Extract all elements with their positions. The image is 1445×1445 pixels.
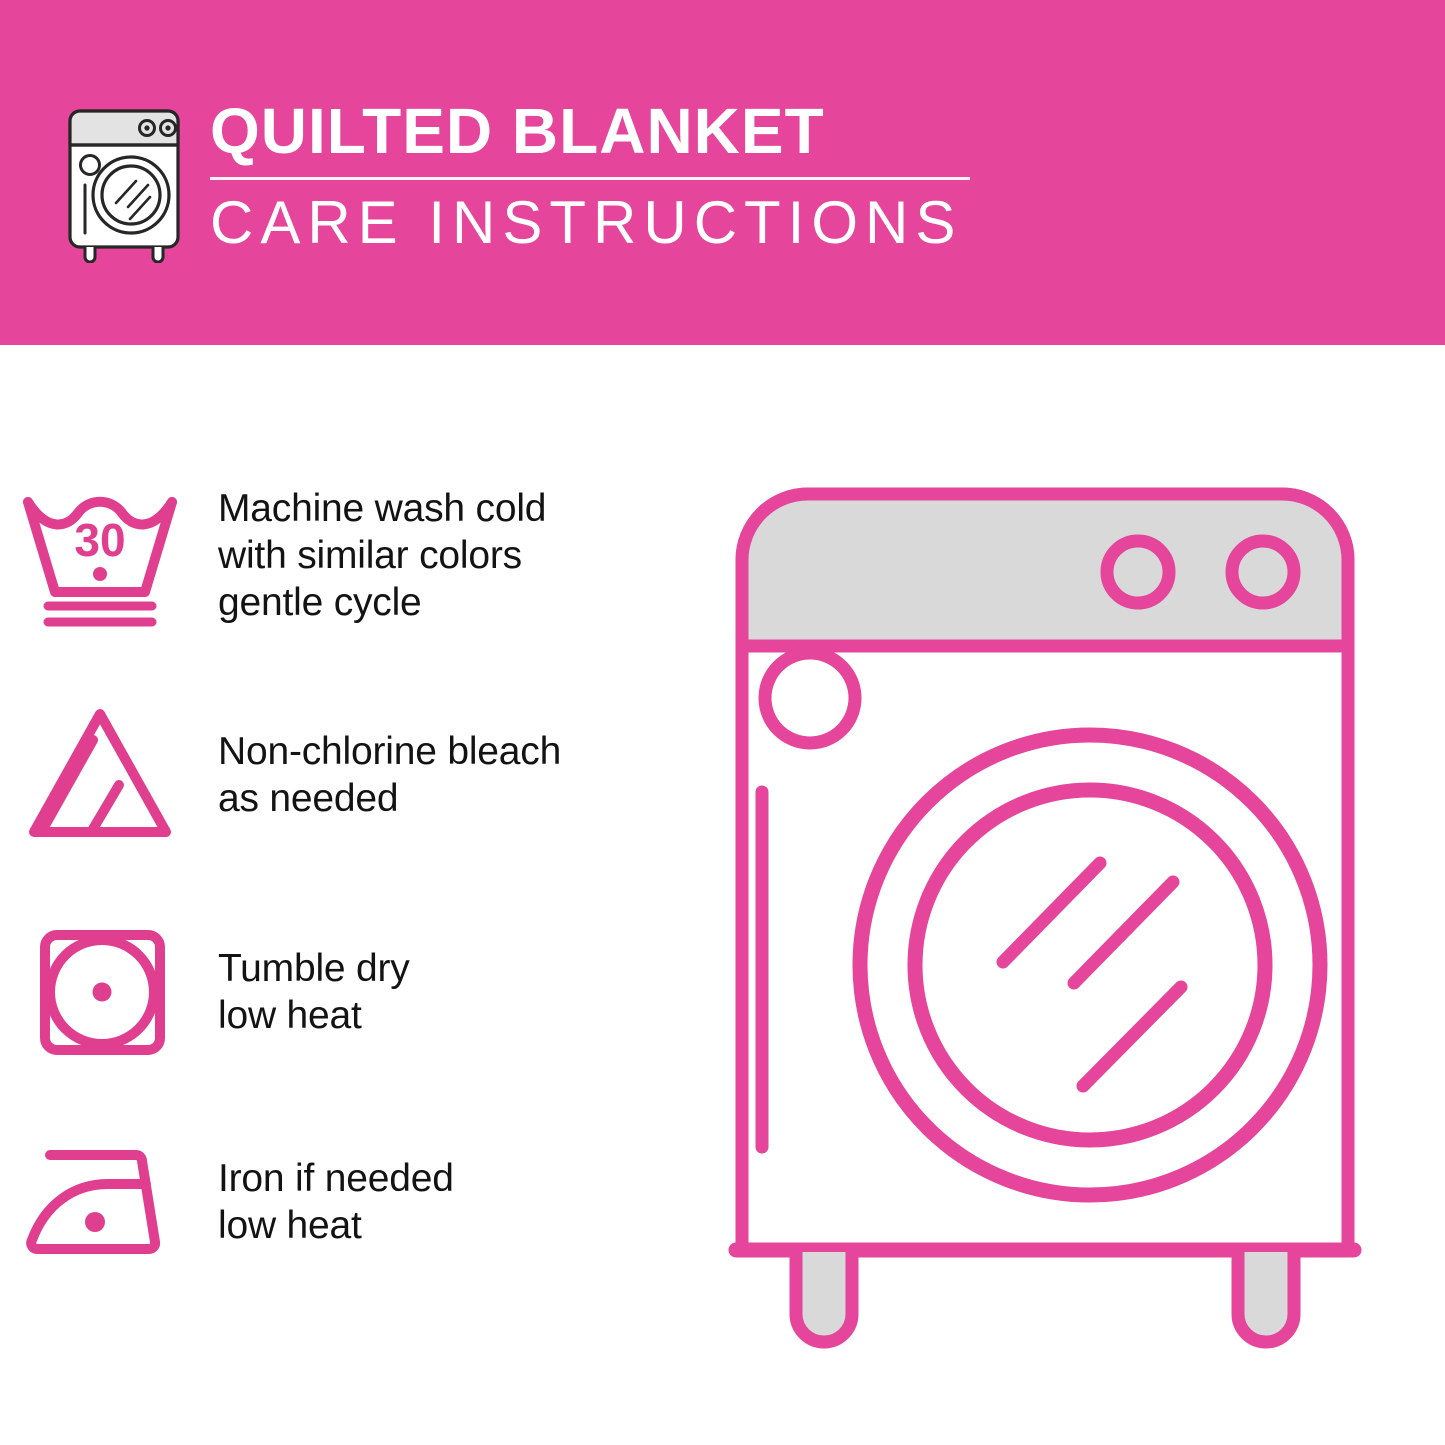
washing-machine-icon xyxy=(58,103,190,263)
care-text-wash: Machine wash cold with similar colors ge… xyxy=(218,485,546,626)
care-text-bleach: Non-chlorine bleach as needed xyxy=(218,728,561,822)
title-divider xyxy=(210,177,970,180)
header-title-block: QUILTED BLANKET CARE INSTRUCTIONS xyxy=(208,95,970,256)
care-instruction-list: 30 Machine wash cold with similar colors… xyxy=(0,345,700,1445)
header-content: QUILTED BLANKET CARE INSTRUCTIONS xyxy=(58,95,970,263)
care-text-line: low heat xyxy=(218,992,410,1039)
care-text-line: Iron if needed xyxy=(218,1155,454,1202)
list-item: Tumble dry low heat xyxy=(0,917,700,1067)
list-item: Non-chlorine bleach as needed xyxy=(0,700,700,850)
care-text-dry: Tumble dry low heat xyxy=(218,945,410,1039)
care-text-line: Non-chlorine bleach xyxy=(218,728,561,775)
header-banner: QUILTED BLANKET CARE INSTRUCTIONS xyxy=(0,0,1445,345)
large-washing-machine-illustration xyxy=(700,450,1420,1380)
list-item: Iron if needed low heat xyxy=(0,1127,700,1277)
page-title: QUILTED BLANKET xyxy=(208,95,970,167)
machine-wash-30-gentle-symbol: 30 xyxy=(0,480,200,630)
care-text-line: low heat xyxy=(218,1202,454,1249)
leg-right xyxy=(1238,1252,1294,1342)
tumble-dry-low-symbol xyxy=(0,917,200,1067)
knob-right xyxy=(1232,541,1294,603)
care-text-iron: Iron if needed low heat xyxy=(218,1155,454,1249)
non-chlorine-bleach-symbol xyxy=(0,700,200,850)
care-text-line: gentle cycle xyxy=(218,579,546,626)
care-text-line: Tumble dry xyxy=(218,945,410,992)
leg-left xyxy=(796,1252,852,1342)
knob-left xyxy=(1107,541,1169,603)
wash-temperature-label: 30 xyxy=(74,514,125,566)
page-subtitle: CARE INSTRUCTIONS xyxy=(208,190,970,256)
list-item: 30 Machine wash cold with similar colors… xyxy=(0,480,700,630)
care-text-line: as needed xyxy=(218,775,561,822)
care-text-line: with similar colors xyxy=(218,532,546,579)
care-text-line: Machine wash cold xyxy=(218,485,546,532)
indicator-light xyxy=(765,653,855,743)
iron-low-heat-symbol xyxy=(0,1127,200,1277)
